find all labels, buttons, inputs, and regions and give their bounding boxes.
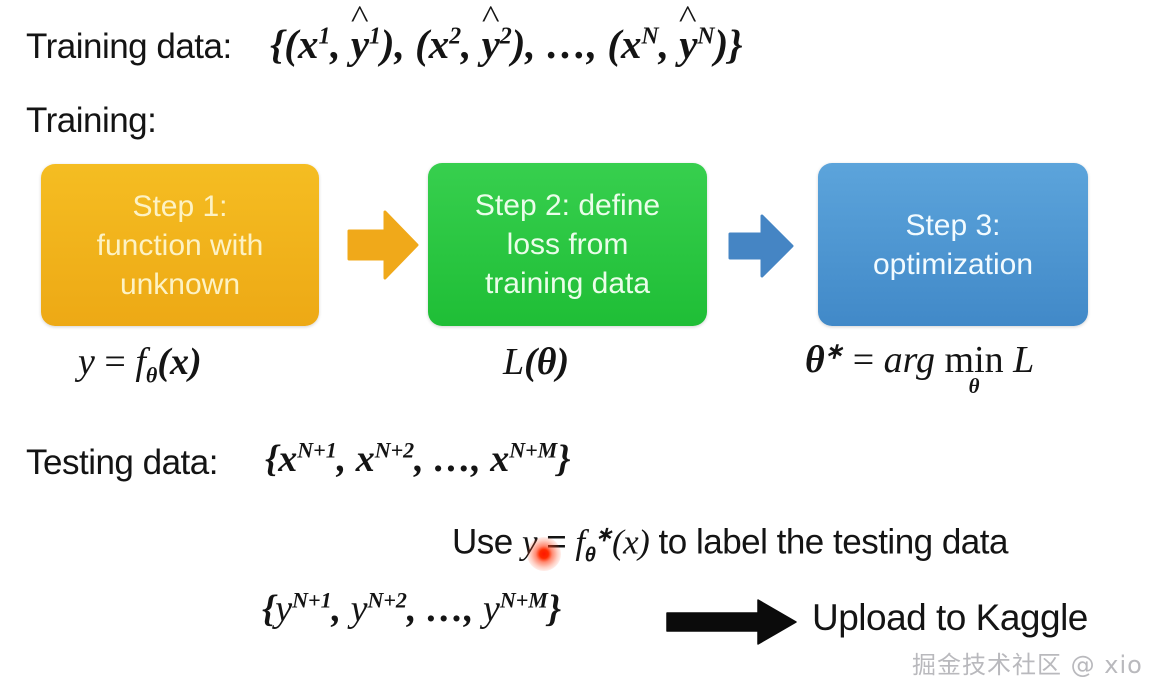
training-section-label: Training: — [26, 101, 156, 141]
testing-data-set: {xN+1, xN+2, …, xN+M} — [265, 437, 571, 481]
watermark: 掘金技术社区 @ xio — [912, 645, 1143, 680]
training-data-set: {(x1, y1), (x2, y2), …, (xN, yN)} — [270, 20, 743, 68]
upload-to-kaggle-label: Upload to Kaggle — [812, 597, 1088, 639]
arrow-right-icon-orange — [347, 208, 419, 282]
use-line-prefix: Use — [452, 523, 522, 562]
step-3-line-1: Step 3: — [873, 206, 1033, 245]
formula-step-1: y = fθ(x) — [78, 340, 202, 389]
arrow-right-icon-black — [666, 598, 798, 646]
slide-canvas: Training data: {(x1, y1), (x2, y2), …, (… — [0, 0, 1159, 689]
step-3-box[interactable]: Step 3: optimization — [818, 163, 1088, 326]
formula-step-2: L(θ) — [503, 340, 569, 384]
formula-step-3: θ∗ = arg min θ L — [805, 338, 1034, 396]
step-2-line-2: loss from — [475, 225, 660, 264]
step-1-line-2: function with — [97, 226, 264, 265]
step-3-line-2: optimization — [873, 245, 1033, 284]
step-1-line-1: Step 1: — [97, 187, 264, 226]
step-1-line-3: unknown — [97, 265, 264, 304]
use-line-suffix: to label the testing data — [649, 523, 1008, 562]
step-2-line-1: Step 2: define — [475, 186, 660, 225]
training-data-label: Training data: — [26, 27, 232, 67]
arrow-right-icon-blue — [728, 213, 794, 279]
output-label-set: {yN+1, yN+2, …, yN+M} — [262, 587, 561, 631]
step-2-line-3: training data — [475, 264, 660, 303]
step-1-box[interactable]: Step 1: function with unknown — [41, 164, 319, 326]
use-model-line: Use y = fθ∗(x) to label the testing data — [452, 522, 1008, 568]
step-2-box[interactable]: Step 2: define loss from training data — [428, 163, 707, 326]
testing-data-label: Testing data: — [26, 443, 218, 483]
